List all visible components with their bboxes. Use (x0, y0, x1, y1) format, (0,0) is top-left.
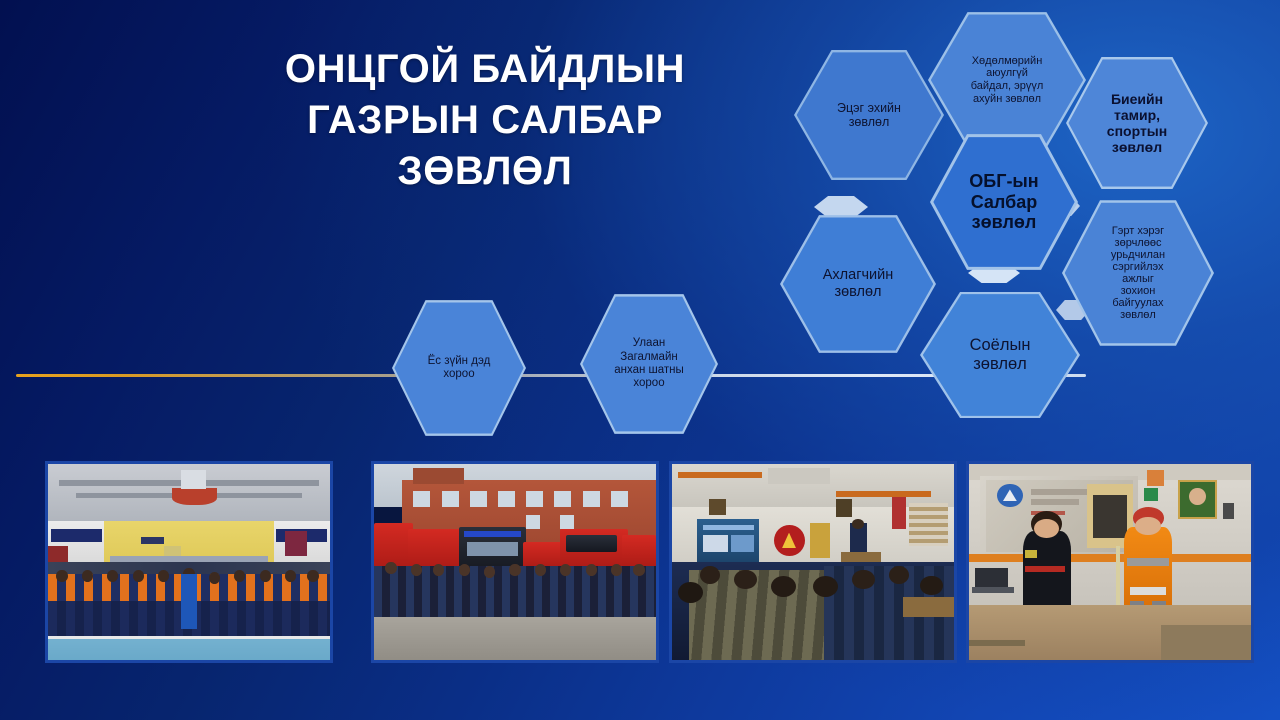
photo-sports-ceremony[interactable] (45, 461, 333, 663)
connector-nub-upper-left (814, 196, 868, 218)
hex-hodolmoriin-ayulgui-zovlol[interactable]: Хөдөлмөрийн аюулгүй байдал, эрүүл ахуйн … (928, 10, 1086, 150)
hex-soyolyn-zovlol[interactable]: Соёлын зөвлөл (920, 290, 1080, 420)
title-line-3: ЗӨВЛӨЛ (205, 146, 765, 197)
hex-yos-zuin-ded-horoo[interactable]: Ёс зүйн дэд хороо (392, 298, 526, 438)
photo-scene-firestation (374, 464, 656, 660)
photo-scene-rescue (969, 464, 1251, 660)
hex-label: Гэрт хэрэг зөрчлөөс урьдчилан сэргийлэх … (1097, 225, 1179, 322)
photo-rescue-demo[interactable] (966, 461, 1254, 663)
photo-fire-station[interactable] (371, 461, 659, 663)
hex-ecег-ehiin-zovlol[interactable]: Эцэг эхийн зөвлөл (794, 48, 944, 182)
photo-training-meeting[interactable] (669, 461, 957, 663)
hex-bieiin-tamir-sportyn-zovlol[interactable]: Биеийн тамир, спортын зөвлөл (1066, 55, 1208, 191)
page-title: ОНЦГОЙ БАЙДЛЫН ГАЗРЫН САЛБАР ЗӨВЛӨЛ (205, 44, 765, 198)
photo-scene-meeting (672, 464, 954, 660)
photo-scene-gym (48, 464, 330, 660)
hex-gert-hereg-zorchloos-zovlol[interactable]: Гэрт хэрэг зөрчлөөс урьдчилан сэргийлэх … (1062, 198, 1214, 348)
slide-canvas: ОНЦГОЙ БАЙДЛЫН ГАЗРЫН САЛБАР ЗӨВЛӨЛ Эцэг… (0, 0, 1280, 720)
hex-label: Эцэг эхийн зөвлөл (823, 101, 915, 130)
hex-label: Ёс зүйн дэд хороо (414, 355, 505, 382)
title-line-2: ГАЗРЫН САЛБАР (205, 95, 765, 146)
hex-label: Улаан Загалмайн анхан шатны хороо (600, 337, 698, 390)
hex-label: ОБГ-ын Салбар зөвлөл (955, 171, 1052, 234)
hex-ahlagchiin-zovlol[interactable]: Ахлагчийн зөвлөл (780, 213, 936, 355)
hex-ulaan-zagalmai-horoo[interactable]: Улаан Загалмайн анхан шатны хороо (580, 292, 718, 436)
hex-label: Хөдөлмөрийн аюулгүй байдал, эрүүл ахуйн … (957, 55, 1058, 106)
hex-label: Ахлагчийн зөвлөл (809, 267, 908, 301)
hex-center-obg-salbar-zovlol[interactable]: ОБГ-ын Салбар зөвлөл (930, 132, 1078, 272)
divider-rule (16, 374, 1086, 377)
title-line-1: ОНЦГОЙ БАЙДЛЫН (205, 44, 765, 95)
hex-label: Биеийн тамир, спортын зөвлөл (1093, 91, 1181, 156)
hex-label: Соёлын зөвлөл (956, 336, 1045, 374)
